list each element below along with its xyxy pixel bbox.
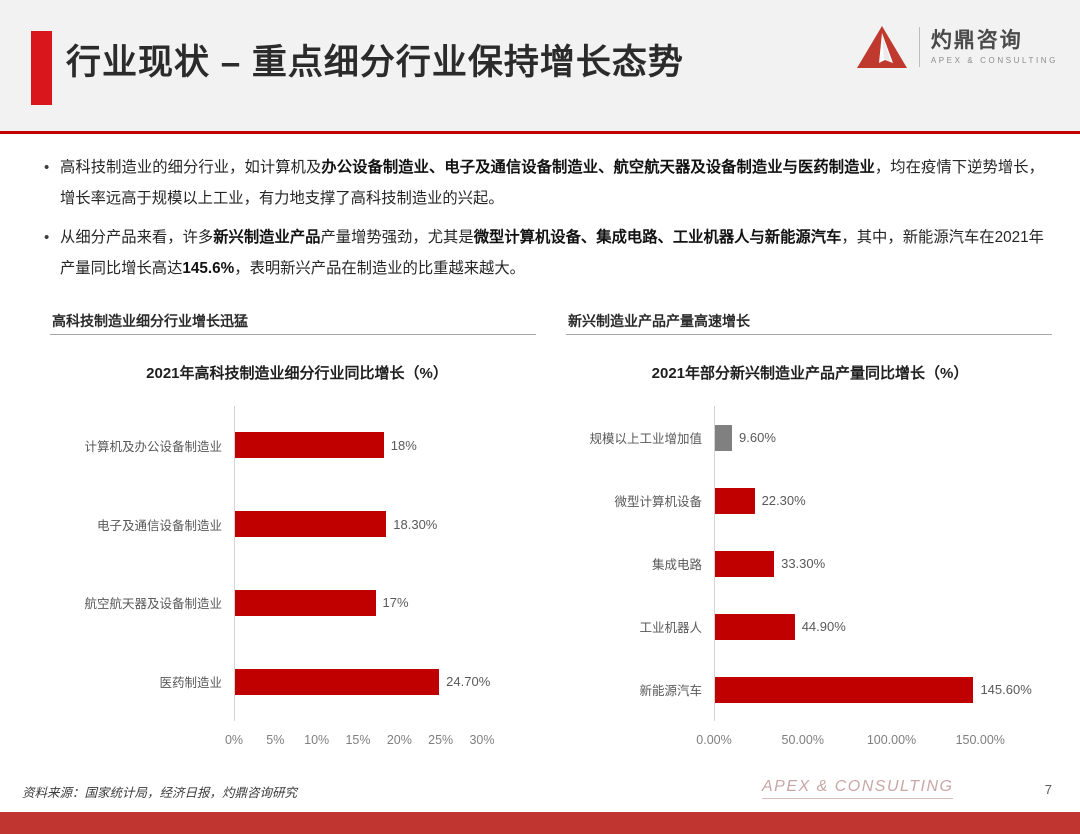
chart-panel-right: 2021年部分新兴制造业产品产量同比增长（%） 规模以上工业增加值9.60%微型… (560, 348, 1060, 763)
bar-value-label: 24.70% (446, 674, 490, 689)
axis-tick: 5% (266, 733, 284, 747)
bar (235, 432, 384, 458)
list-item: • 高科技制造业的细分行业，如计算机及办公设备制造业、电子及通信设备制造业、航空… (44, 152, 1044, 214)
bar-value-label: 44.90% (802, 619, 846, 634)
bar (715, 677, 973, 703)
bar-row: 电子及通信设备制造业18.30% (50, 485, 544, 564)
bar (235, 669, 439, 695)
chart-title: 2021年高科技制造业细分行业同比增长（%） (50, 362, 544, 383)
logo-divider (919, 27, 920, 67)
bar (235, 511, 386, 537)
bar-row: 医药制造业24.70% (50, 642, 544, 721)
category-label: 医药制造业 (50, 672, 222, 691)
bullet-marker: • (44, 152, 60, 183)
axis-tick-labels: 0.00%50.00%100.00%150.00% (560, 733, 1060, 751)
bullet-text: 高科技制造业的细分行业，如计算机及办公设备制造业、电子及通信设备制造业、航空航天… (60, 152, 1044, 214)
source-note: 资料来源：国家统计局，经济日报，灼鼎咨询研究 (22, 782, 297, 801)
axis-tick: 150.00% (956, 733, 1005, 747)
category-label: 航空航天器及设备制造业 (50, 593, 222, 612)
axis-tick: 50.00% (782, 733, 824, 747)
axis-tick: 0.00% (696, 733, 731, 747)
bar-row: 集成电路33.30% (560, 532, 1060, 595)
category-label: 新能源汽车 (560, 680, 702, 699)
axis-tick-labels: 0%5%10%15%20%25%30% (50, 733, 544, 751)
page-title: 行业现状 – 重点细分行业保持增长态势 (66, 34, 684, 85)
axis-tick: 25% (428, 733, 453, 747)
category-label: 规模以上工业增加值 (560, 428, 702, 447)
bar (715, 614, 795, 640)
bar-row: 新能源汽车145.60% (560, 658, 1060, 721)
red-triangle-logo-icon (855, 24, 909, 70)
logo-english-name: APEX & CONSULTING (931, 56, 1058, 65)
axis-tick: 0% (225, 733, 243, 747)
section-header-right: 新兴制造业产品产量高速增长 (568, 311, 750, 331)
bar-value-label: 33.30% (781, 556, 825, 571)
logo-chinese-name: 灼鼎咨询 (931, 29, 1058, 53)
axis-tick: 10% (304, 733, 329, 747)
chart-plot-area: 计算机及办公设备制造业18%电子及通信设备制造业18.30%航空航天器及设备制造… (50, 406, 544, 721)
section-rule-right (566, 334, 1052, 335)
axis-tick: 30% (469, 733, 494, 747)
bar-row: 规模以上工业增加值9.60% (560, 406, 1060, 469)
bar (715, 425, 732, 451)
footer-bar (0, 812, 1080, 834)
bar-rows: 规模以上工业增加值9.60%微型计算机设备22.30%集成电路33.30%工业机… (560, 406, 1060, 721)
header-divider-rule (0, 131, 1080, 134)
section-rule-left (50, 334, 536, 335)
chart-panel-left: 2021年高科技制造业细分行业同比增长（%） 计算机及办公设备制造业18%电子及… (50, 348, 544, 763)
bar-row: 工业机器人44.90% (560, 595, 1060, 658)
axis-tick: 15% (345, 733, 370, 747)
footer-watermark: APEX & CONSULTING (762, 778, 953, 799)
axis-tick: 100.00% (867, 733, 916, 747)
bar-row: 航空航天器及设备制造业17% (50, 564, 544, 643)
bar-row: 计算机及办公设备制造业18% (50, 406, 544, 485)
bullet-text: 从细分产品来看，许多新兴制造业产品产量增势强劲，尤其是微型计算机设备、集成电路、… (60, 222, 1044, 284)
category-label: 微型计算机设备 (560, 491, 702, 510)
bullet-marker: • (44, 222, 60, 253)
category-label: 电子及通信设备制造业 (50, 515, 222, 534)
bullet-list: • 高科技制造业的细分行业，如计算机及办公设备制造业、电子及通信设备制造业、航空… (44, 152, 1044, 292)
list-item: • 从细分产品来看，许多新兴制造业产品产量增势强劲，尤其是微型计算机设备、集成电… (44, 222, 1044, 284)
chart-title: 2021年部分新兴制造业产品产量同比增长（%） (560, 362, 1060, 383)
section-header-left: 高科技制造业细分行业增长迅猛 (52, 311, 248, 331)
category-label: 计算机及办公设备制造业 (50, 436, 222, 455)
category-label: 集成电路 (560, 554, 702, 573)
title-accent-bar (31, 31, 52, 105)
bar-value-label: 17% (383, 595, 409, 610)
page-number: 7 (1045, 782, 1052, 797)
bar-value-label: 22.30% (762, 493, 806, 508)
axis-tick: 20% (387, 733, 412, 747)
bar-value-label: 18% (391, 438, 417, 453)
bar-rows: 计算机及办公设备制造业18%电子及通信设备制造业18.30%航空航天器及设备制造… (50, 406, 544, 721)
company-logo: 灼鼎咨询 APEX & CONSULTING (855, 18, 1058, 76)
bar-value-label: 18.30% (393, 517, 437, 532)
bar-value-label: 9.60% (739, 430, 776, 445)
bar (715, 551, 774, 577)
category-label: 工业机器人 (560, 617, 702, 636)
bar-row: 微型计算机设备22.30% (560, 469, 1060, 532)
chart-plot-area: 规模以上工业增加值9.60%微型计算机设备22.30%集成电路33.30%工业机… (560, 406, 1060, 721)
bar (715, 488, 755, 514)
bar (235, 590, 376, 616)
bar-value-label: 145.60% (980, 682, 1031, 697)
